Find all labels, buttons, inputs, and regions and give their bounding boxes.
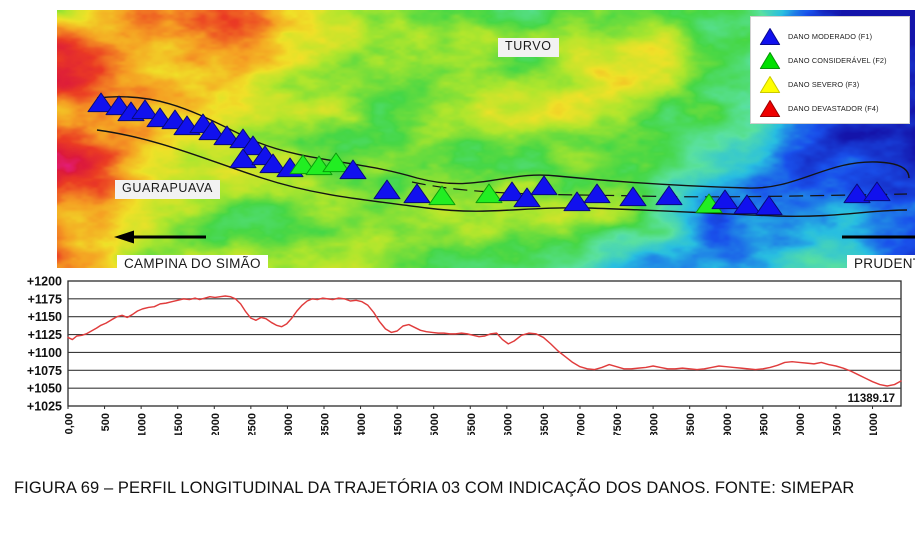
total-distance-annotation: 11389.17	[848, 393, 895, 405]
elevation-profile-plot: +1200+1175+1150+1125+1100+1075+1050+1025…	[0, 275, 915, 435]
map-label-guarapuava: GUARAPUAVA	[115, 180, 220, 199]
triangle-marker-green-icon	[759, 51, 781, 70]
x-tick-label: 3500	[319, 413, 331, 435]
triangle-marker-yellow-icon	[759, 75, 781, 94]
chart-annotation: 11389.17	[848, 393, 895, 405]
y-tick-label: +1025	[27, 400, 62, 414]
x-tick-label: 8000	[649, 413, 661, 435]
x-tick-label: 4500	[393, 413, 405, 435]
x-tick-label: 3000	[283, 413, 295, 435]
figure-caption: FIGURA 69 – PERFIL LONGITUDINAL DA TRAJE…	[14, 477, 909, 500]
legend-label-f4: DANO DEVASTADOR (F4)	[788, 104, 879, 113]
x-tick-label: 500	[100, 413, 112, 431]
damage-marker-f1	[734, 195, 760, 214]
damage-marker-f1	[374, 180, 400, 199]
y-tick-label: +1150	[28, 310, 62, 324]
legend-label-f2: DANO CONSIDERÁVEL (F2)	[788, 56, 887, 65]
figure-container: TURVO GUARAPUAVA CAMPINA DO SIMÃO PRUDEN…	[0, 0, 915, 555]
x-tick-label: 0,00	[64, 413, 76, 434]
triangle-marker-red-icon	[759, 99, 781, 118]
x-tick-label: 9500	[758, 413, 770, 435]
longitudinal-profile-chart: +1200+1175+1150+1125+1100+1075+1050+1025…	[0, 275, 915, 435]
chart-plot-frame	[68, 281, 901, 406]
x-tick-label: 7000	[575, 413, 587, 435]
damage-scale-legend: DANO MODERADO (F1) DANO CONSIDERÁVEL (F2…	[750, 16, 910, 124]
map-label-prudentopolis: PRUDENTÓPOLIS	[847, 255, 915, 268]
x-tick-label: 2000	[210, 413, 222, 435]
y-tick-label: +1100	[28, 346, 62, 360]
x-tick-label: 5500	[466, 413, 478, 435]
y-tick-label: +1125	[28, 328, 62, 342]
x-tick-label: 2500	[246, 413, 258, 435]
damage-marker-f1	[712, 190, 738, 209]
chart-gridlines	[68, 281, 901, 406]
x-tick-label: 10000	[795, 413, 807, 435]
damage-marker-f2	[429, 186, 455, 205]
legend-item-f3: DANO SEVERO (F3)	[759, 72, 903, 96]
y-tick-label: +1175	[28, 292, 62, 306]
damage-marker-f2	[476, 184, 502, 203]
x-tick-label: 10500	[831, 413, 843, 435]
chart-y-axis-ticks: +1200+1175+1150+1125+1100+1075+1050+1025	[27, 275, 62, 414]
chart-x-axis-ticks: 0,00500100015002000250030003500400045005…	[64, 406, 881, 435]
damage-marker-f1	[584, 184, 610, 203]
damage-marker-f1	[404, 184, 430, 203]
damage-marker-f1	[864, 182, 890, 201]
legend-item-f1: DANO MODERADO (F1)	[759, 24, 903, 48]
legend-item-f4: DANO DEVASTADOR (F4)	[759, 96, 903, 120]
x-tick-label: 8500	[685, 413, 697, 435]
x-tick-label: 6000	[502, 413, 514, 435]
map-label-campina-do-simao: CAMPINA DO SIMÃO	[117, 255, 268, 268]
triangle-marker-blue-icon	[759, 27, 781, 46]
y-tick-label: +1050	[27, 382, 62, 396]
x-tick-label: 6500	[539, 413, 551, 435]
x-tick-label: 1500	[173, 413, 185, 435]
arrow-right-icon	[842, 230, 915, 244]
x-tick-label: 11000	[868, 413, 880, 435]
damage-marker-f1	[531, 176, 557, 195]
damage-marker-f1	[756, 196, 782, 215]
legend-label-f1: DANO MODERADO (F1)	[788, 32, 872, 41]
legend-item-f2: DANO CONSIDERÁVEL (F2)	[759, 48, 903, 72]
y-tick-label: +1075	[27, 364, 62, 378]
x-tick-label: 9000	[722, 413, 734, 435]
x-tick-label: 4000	[356, 413, 368, 435]
x-tick-label: 1000	[137, 413, 149, 435]
y-tick-label: +1200	[27, 275, 62, 289]
legend-label-f3: DANO SEVERO (F3)	[788, 80, 859, 89]
arrow-left-icon	[114, 230, 206, 244]
damage-marker-f1	[656, 186, 682, 205]
x-tick-label: 5000	[429, 413, 441, 435]
x-tick-label: 7500	[612, 413, 624, 435]
map-label-turvo: TURVO	[498, 38, 559, 57]
